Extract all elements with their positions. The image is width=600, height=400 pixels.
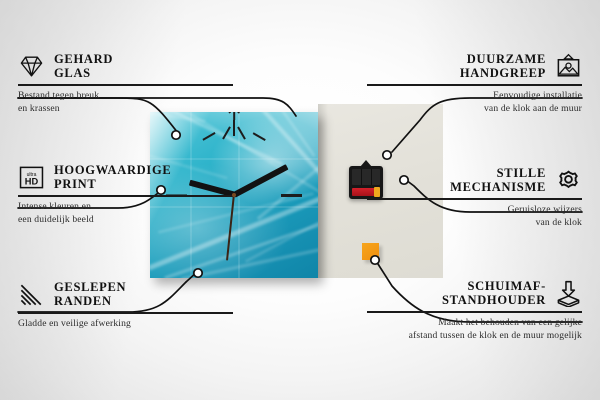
feature-stille-mechanisme: STILLE MECHANISME Geruisloze wijzers van… — [367, 166, 582, 229]
feature-desc-line1: Geruisloze wijzers — [367, 204, 582, 217]
feature-gehard-glas: GEHARD GLAS Bestand tegen breuk en krass… — [18, 52, 233, 115]
svg-text:HD: HD — [25, 176, 39, 186]
feature-desc-line2: en krassen — [18, 103, 233, 116]
feature-desc-line2: afstand tussen de klok en de muur mogeli… — [367, 330, 582, 343]
center-pin — [232, 193, 236, 197]
feature-title-line1: STILLE — [450, 166, 546, 180]
divider — [367, 198, 582, 200]
hour-tick — [252, 132, 265, 141]
feature-desc-line1: Intense kleuren en — [18, 201, 233, 214]
hour-tick — [202, 132, 215, 141]
feature-desc-line2: van de klok aan de muur — [367, 103, 582, 116]
feature-hoogwaardige-print: ultra HD HOOGWAARDIGE PRINT Intense kleu… — [18, 163, 233, 226]
hour-tick — [237, 112, 246, 114]
feature-title-line1: GESLEPEN — [54, 280, 126, 294]
beveled-edge-icon — [18, 281, 45, 308]
hour-tick — [281, 194, 302, 197]
divider — [18, 312, 233, 314]
spacer-stack-icon — [555, 280, 582, 307]
feature-title-line1: DUURZAME — [460, 52, 546, 66]
feature-schuimafstandhouder: SCHUIMAF- STANDHOUDER Maakt het behouden… — [367, 279, 582, 342]
feature-title-line2: PRINT — [54, 177, 171, 191]
feature-desc-line1: Eenvoudige installatie — [367, 90, 582, 103]
divider — [18, 195, 233, 197]
hour-tick — [233, 120, 235, 136]
feature-desc-line1: Gladde en veilige afwerking — [18, 318, 233, 331]
hour-tick — [233, 112, 235, 120]
minute-hand — [233, 164, 289, 197]
feature-geslepen-randen: GESLEPEN RANDEN Gladde en veilige afwerk… — [18, 280, 233, 331]
gear-icon — [555, 167, 582, 194]
product-infographic: GEHARD GLAS Bestand tegen breuk en krass… — [0, 0, 600, 400]
feature-title-line2: GLAS — [54, 66, 113, 80]
divider — [367, 311, 582, 313]
diamond-icon — [18, 53, 45, 80]
feature-title-line2: MECHANISME — [450, 180, 546, 194]
divider — [18, 84, 233, 86]
feature-title-line2: STANDHOUDER — [442, 293, 546, 307]
feature-title-line2: RANDEN — [54, 294, 126, 308]
feature-title-line1: GEHARD — [54, 52, 113, 66]
feature-title-line1: SCHUIMAF- — [442, 279, 546, 293]
feature-title-line1: HOOGWAARDIGE — [54, 163, 171, 177]
foam-spacer — [362, 243, 379, 260]
feature-desc-line2: een duidelijk beeld — [18, 214, 233, 227]
ultra-hd-icon: ultra HD — [18, 164, 45, 191]
picture-hanger-icon — [555, 53, 582, 80]
feature-title-line2: HANDGREEP — [460, 66, 546, 80]
feature-duurzame-handgreep: DUURZAME HANDGREEP Eenvoudige installati… — [367, 52, 582, 115]
divider — [367, 84, 582, 86]
feature-desc-line2: van de klok — [367, 217, 582, 230]
feature-desc-line1: Maakt het behouden van een gelijke — [367, 317, 582, 330]
feature-desc-line1: Bestand tegen breuk — [18, 90, 233, 103]
